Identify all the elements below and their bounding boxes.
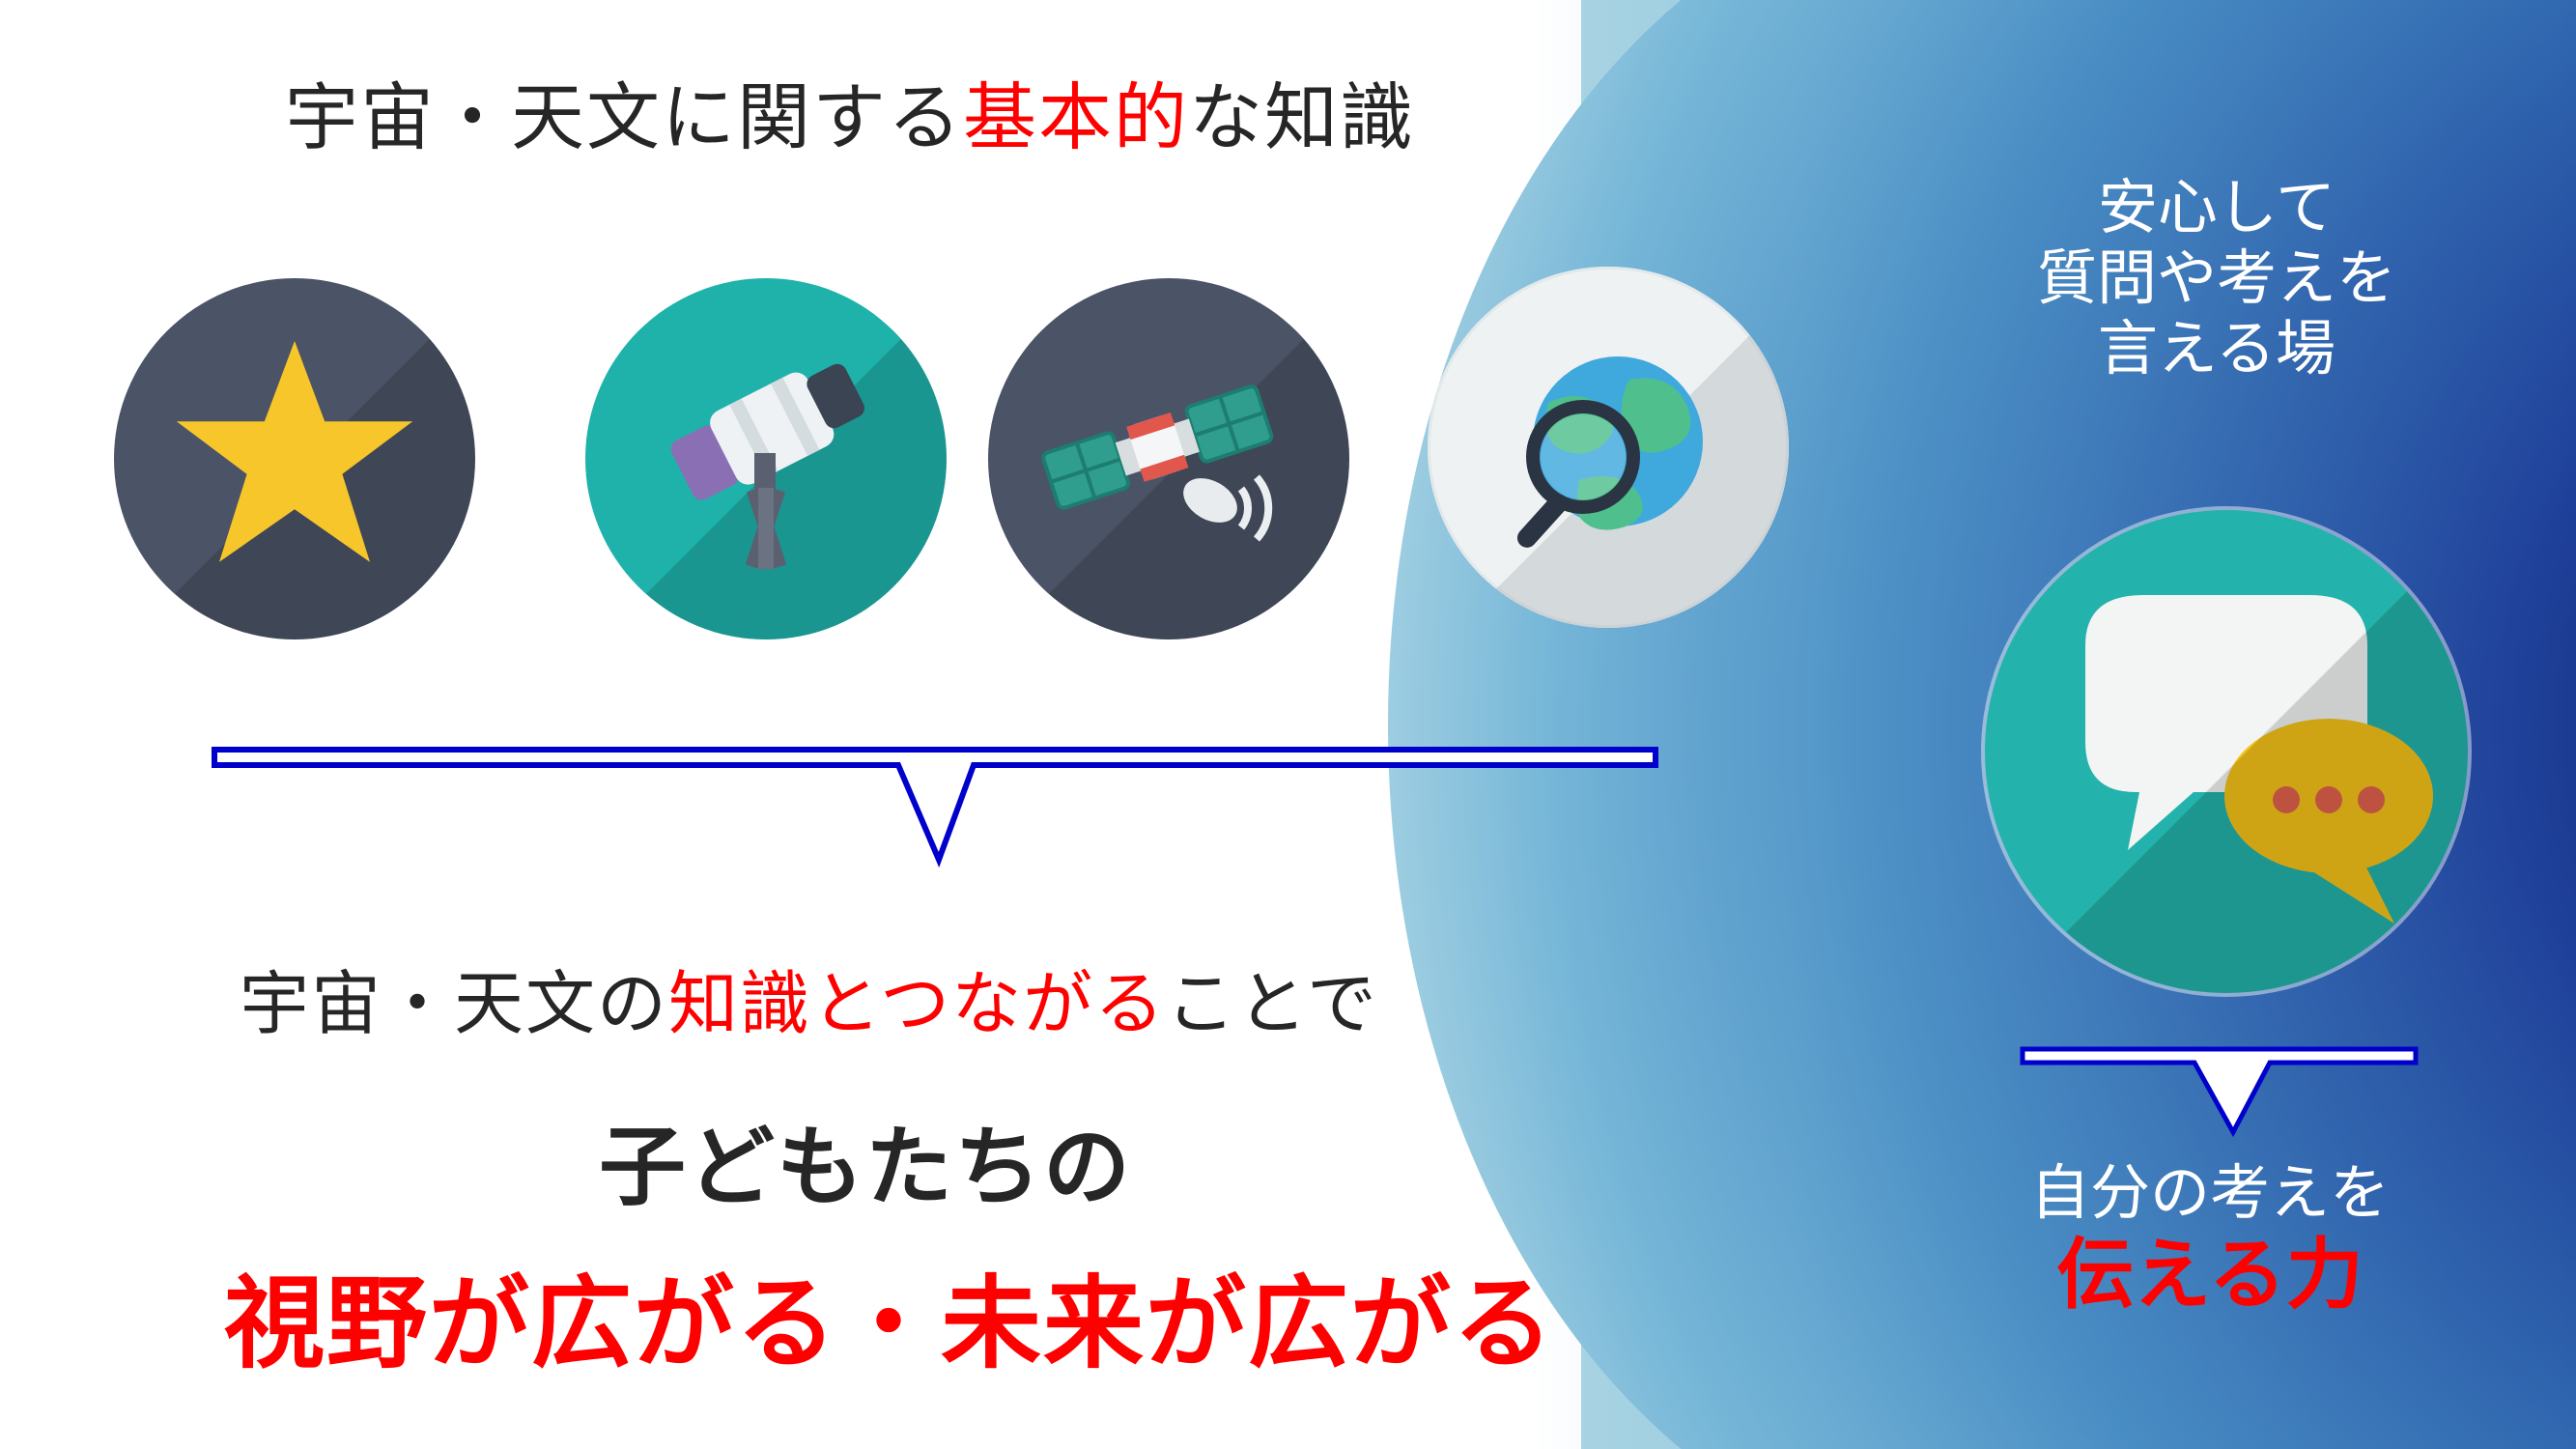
right-top-line-1: 安心して [2014, 172, 2420, 242]
speech-bubbles-icon [1985, 510, 2468, 993]
satellite-glyph [1029, 338, 1309, 580]
line2-segment-3: ことで [1166, 963, 1378, 1044]
globe-magnifier-glyph [1463, 302, 1753, 592]
right-bottom-text: 自分の考えを 伝える力 [1959, 1159, 2461, 1319]
icon-row [114, 278, 1795, 607]
line2-segment-red: 知識とつながる [668, 963, 1166, 1044]
globe-magnifier-icon [1428, 267, 1789, 628]
right-top-text: 安心して 質問や考えを 言える場 [2014, 172, 2420, 384]
right-bottom-white: 自分の考えを [1959, 1159, 2461, 1226]
emphasis-line-red: 視野が広がる・未来が広がる [224, 1241, 1555, 1387]
page-title: 宇宙・天文に関する基本的な知識 [285, 58, 1415, 164]
star-glyph [169, 333, 420, 575]
satellite-icon [988, 278, 1349, 639]
emphasis-line-dark: 子どもたちの [599, 1096, 1132, 1222]
slide-canvas: 宇宙・天文に関する基本的な知識 [0, 0, 2576, 1449]
title-segment-3: な知識 [1189, 74, 1415, 160]
telescope-glyph [631, 333, 901, 584]
speech-bubbles-shadow [1985, 510, 2468, 993]
title-segment-1: 宇宙・天文に関する [285, 74, 963, 160]
down-arrow-right [2019, 1043, 2420, 1145]
telescope-icon [585, 278, 947, 639]
subtitle-line: 宇宙・天文の知識とつながることで [240, 947, 1378, 1048]
star-icon [114, 278, 475, 639]
right-top-line-3: 言える場 [2014, 313, 2420, 384]
title-segment-red: 基本的 [963, 74, 1189, 160]
right-bottom-red: 伝える力 [1959, 1232, 2461, 1319]
down-arrow-left [211, 744, 1659, 869]
line2-segment-1: 宇宙・天文の [240, 963, 668, 1044]
right-top-line-2: 質問や考えを [2014, 242, 2420, 313]
